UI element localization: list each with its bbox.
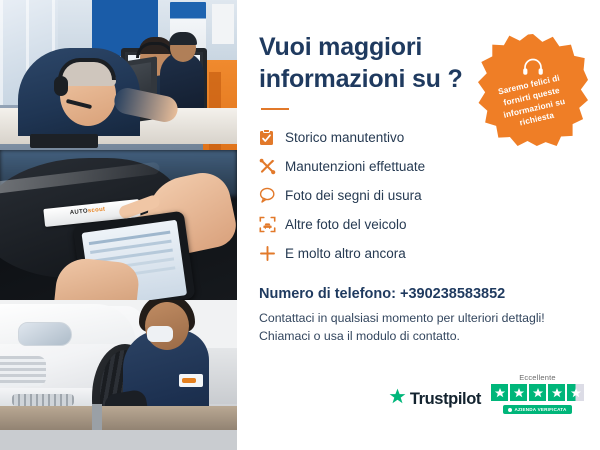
- car-air-vent: [12, 394, 74, 406]
- speech-bubble-icon: [259, 187, 285, 203]
- trustpilot-logo: Trustpilot: [389, 388, 481, 414]
- car-sticker-photo: AUTOscout: [0, 150, 237, 300]
- star-icon: [548, 384, 565, 401]
- trustpilot-widget[interactable]: Trustpilot Eccellente: [389, 373, 584, 414]
- car-scan-icon: [259, 216, 285, 233]
- trustpilot-name: Trustpilot: [410, 390, 481, 409]
- contact-text-line2: Chiamaci o usa il modulo di contatto.: [259, 327, 578, 345]
- feature-label: E molto altro ancora: [285, 246, 406, 261]
- mechanic-face-mask: [147, 326, 173, 342]
- content-panel: Vuoi maggiori informazioni su ? Storico …: [237, 0, 600, 450]
- page-title: Vuoi maggiori informazioni su ?: [259, 32, 474, 95]
- feature-label: Manutenzioni effettuate: [285, 159, 425, 174]
- garage-floor: [0, 430, 237, 450]
- agent-foreground: [18, 48, 140, 136]
- verified-check-icon: [508, 408, 512, 412]
- sticker-label: AUTOscout: [70, 207, 106, 217]
- lift-pillar: [92, 404, 102, 432]
- trustpilot-rating-block: Eccellente: [491, 373, 584, 414]
- star-icon: [491, 384, 508, 401]
- wall-poster-secondary: [212, 4, 234, 44]
- star-icon: [510, 384, 527, 401]
- title-divider: [261, 108, 289, 110]
- trustpilot-stars: [491, 384, 584, 401]
- star-icon-half: [567, 384, 584, 401]
- tools-cross-icon: [259, 158, 285, 175]
- verified-label: AZIENDA VERIFICATA: [514, 407, 566, 412]
- trustpilot-star-icon: [389, 388, 406, 410]
- phone-label: Numero di telefono:: [259, 286, 396, 302]
- car-headlight: [18, 322, 72, 346]
- agent-headset-icon: [58, 58, 116, 80]
- clipboard-check-icon: [259, 129, 285, 146]
- mechanic-uniform-badge: [179, 374, 203, 387]
- photo-strip: AUTOscout: [0, 0, 237, 450]
- feature-item-manutenzioni[interactable]: Manutenzioni effettuate: [259, 153, 578, 179]
- car-grille: [0, 356, 46, 386]
- verified-badge: AZIENDA VERIFICATA: [503, 405, 571, 414]
- desk-tablet: [30, 134, 98, 148]
- trustpilot-rating-label: Eccellente: [519, 373, 556, 382]
- contact-text: Contattaci in qualsiasi momento per ulte…: [259, 309, 578, 346]
- call-center-photo: [0, 0, 237, 150]
- feature-label: Storico manutentivo: [285, 130, 404, 145]
- mechanic-lift-photo: [0, 300, 237, 450]
- phone-line: Numero di telefono: +390238583852: [259, 286, 578, 302]
- contact-block: Numero di telefono: +390238583852 Contat…: [259, 286, 578, 346]
- plus-icon: [259, 245, 285, 262]
- colleague2-hair: [169, 32, 197, 45]
- promo-banner: AUTOscout: [0, 0, 600, 450]
- car-lift-platform: [0, 406, 237, 432]
- agent-headset-earcup: [54, 76, 68, 96]
- feature-label: Foto dei segni di usura: [285, 188, 422, 203]
- phone-number[interactable]: +390238583852: [400, 286, 505, 302]
- star-icon: [529, 384, 546, 401]
- info-badge: Saremo felici di fornirti queste informa…: [478, 34, 588, 146]
- feature-item-foto-usura[interactable]: Foto dei segni di usura: [259, 182, 578, 208]
- sticker-suffix: scout: [88, 207, 106, 215]
- feature-item-altre-foto[interactable]: Altre foto del veicolo: [259, 211, 578, 237]
- contact-text-line1: Contattaci in qualsiasi momento per ulte…: [259, 309, 578, 327]
- feature-label: Altre foto del veicolo: [285, 217, 407, 232]
- feature-item-altro-ancora[interactable]: E molto altro ancora: [259, 240, 578, 266]
- sticker-prefix: AUTO: [70, 208, 89, 216]
